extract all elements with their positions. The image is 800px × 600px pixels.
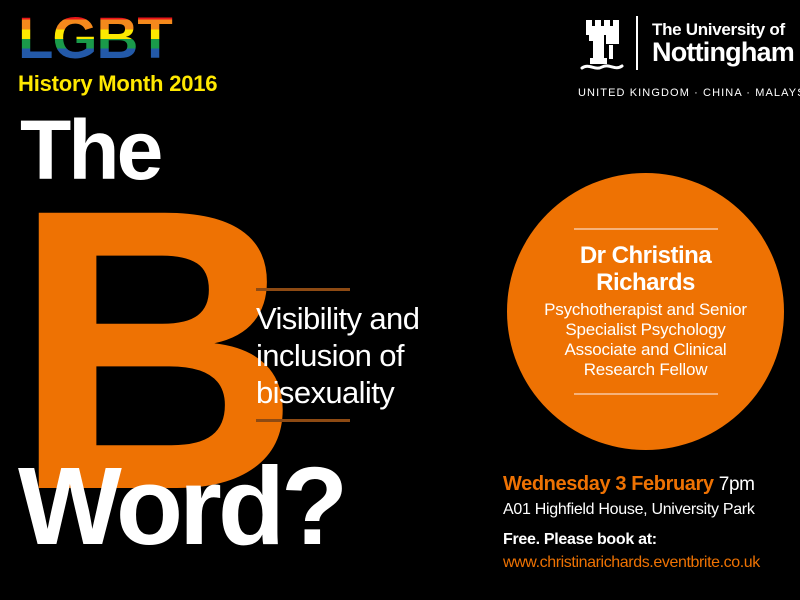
lgbt-rainbow-wordmark: LGBT (18, 10, 204, 68)
event-date: Wednesday 3 February 7pm (503, 472, 795, 497)
university-of-nottingham-logo: The University of Nottingham UNITED KING… (574, 12, 792, 99)
subtitle-block: Visibility and inclusion of bisexuality (256, 288, 476, 422)
uon-line-the-university-of: The University of (652, 21, 794, 38)
uon-wordmark: The University of Nottingham (652, 21, 794, 66)
subtitle-text: Visibility and inclusion of bisexuality (256, 291, 476, 411)
event-time: 7pm (719, 474, 755, 495)
castle-tower-icon (580, 14, 624, 72)
event-booking-url[interactable]: www.christinarichards.eventbrite.co.uk (503, 552, 795, 573)
logo-divider (636, 16, 638, 70)
uon-campus-countries: UNITED KINGDOM · CHINA · MALAYSIA (578, 87, 792, 99)
event-venue: A01 Highfield House, University Park (503, 499, 795, 520)
lgbt-history-month-subtitle: History Month 2016 (18, 72, 248, 96)
speaker-rule-top (574, 228, 718, 230)
uon-line-nottingham: Nottingham (652, 39, 794, 66)
headline-word-question: Word? (18, 452, 344, 562)
event-booking-label: Free. Please book at: (503, 529, 795, 550)
poster-canvas: LGBT History Month 2016 (0, 0, 800, 600)
event-details-block: Wednesday 3 February 7pm A01 Highfield H… (503, 472, 795, 573)
speaker-name: Dr Christina Richards (533, 242, 758, 296)
uon-logo-row: The University of Nottingham (574, 12, 792, 74)
speaker-rule-bottom (574, 393, 718, 395)
speaker-role: Psychotherapist and Senior Specialist Ps… (533, 300, 758, 380)
lgbt-history-month-logo: LGBT History Month 2016 (18, 10, 248, 96)
speaker-circle: Dr Christina Richards Psychotherapist an… (507, 173, 784, 450)
subtitle-rule-bottom (256, 419, 350, 422)
event-date-text: Wednesday 3 February (503, 473, 714, 495)
